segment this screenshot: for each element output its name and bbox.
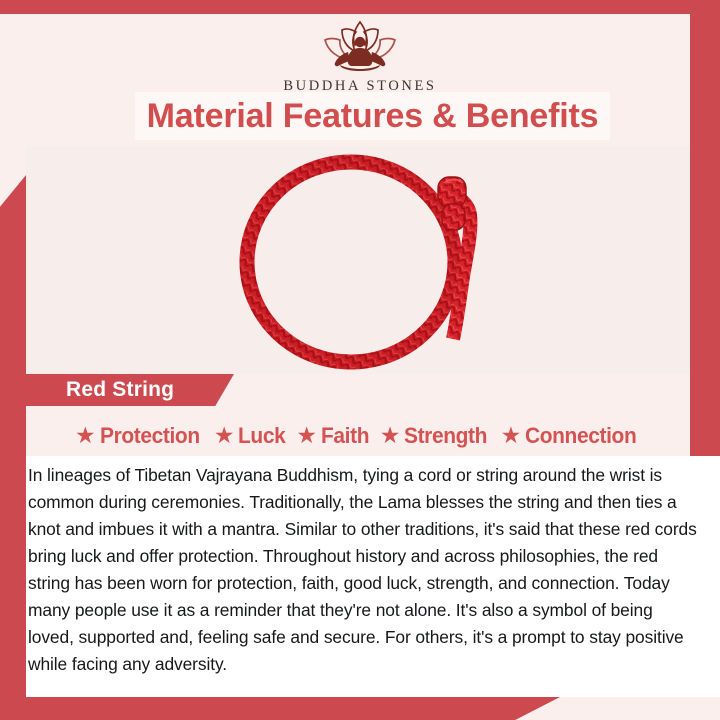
feature-item-strength: ★ Strength [380, 423, 494, 449]
feature-label: Strength [404, 423, 487, 449]
infographic-page: BUDDHA STONES Material Features & Benefi… [0, 0, 720, 720]
red-braided-cord-bracelet-icon [232, 149, 484, 371]
frame-band-top [0, 0, 720, 14]
frame-band-left [0, 175, 26, 705]
feature-label: Luck [238, 423, 285, 449]
frame-band-bottom [0, 697, 560, 720]
title-banner: Material Features & Benefits [135, 92, 610, 140]
product-label-banner: Red String [26, 374, 234, 406]
feature-label: Protection [100, 423, 200, 449]
product-image [26, 146, 690, 374]
star-icon: ★ [501, 424, 522, 447]
page-title: Material Features & Benefits [147, 97, 599, 136]
feature-list: ★ Protection ★ Luck ★ Faith ★ Strength ★… [26, 418, 694, 454]
feature-label: Faith [321, 423, 369, 449]
description-body: In lineages of Tibetan Vajrayana Buddhis… [26, 456, 720, 678]
feature-item-connection: ★ Connection [501, 423, 645, 449]
product-label: Red String [26, 378, 174, 402]
star-icon: ★ [75, 424, 96, 447]
star-icon: ★ [296, 424, 317, 447]
feature-label: Connection [525, 423, 636, 449]
feature-item-protection: ★ Protection [75, 423, 207, 449]
star-icon: ★ [380, 424, 401, 447]
feature-item-luck: ★ Luck [214, 423, 290, 449]
lotus-meditation-icon [300, 18, 420, 76]
brand-logo: BUDDHA STONES [0, 18, 720, 95]
feature-item-faith: ★ Faith [296, 423, 372, 449]
star-icon: ★ [214, 424, 235, 447]
description-panel: In lineages of Tibetan Vajrayana Buddhis… [26, 456, 720, 697]
